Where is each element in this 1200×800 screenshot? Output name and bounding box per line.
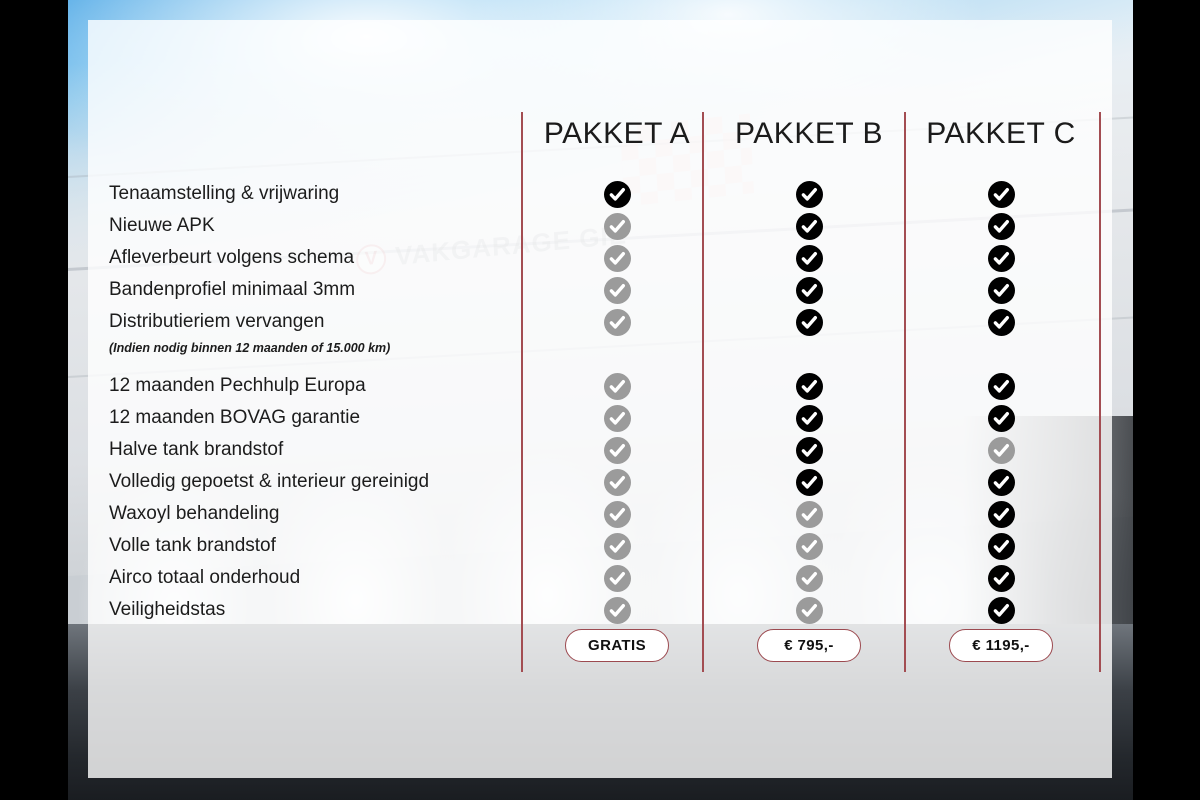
check-included-icon — [988, 501, 1015, 528]
check-included-icon — [988, 373, 1015, 400]
check-included-icon — [988, 309, 1015, 336]
check-included-icon — [796, 181, 823, 208]
letterbox-left — [0, 0, 68, 800]
check-excluded-icon — [604, 469, 631, 496]
check-included-icon — [796, 373, 823, 400]
check-included-icon — [988, 565, 1015, 592]
feature-label: Halve tank brandstof — [109, 440, 283, 459]
column-header-c: PAKKET C — [861, 117, 1141, 151]
check-excluded-icon — [796, 597, 823, 624]
feature-label: Tenaamstelling & vrijwaring — [109, 184, 339, 203]
check-included-icon — [988, 277, 1015, 304]
feature-label: Waxoyl behandeling — [109, 504, 279, 523]
check-included-icon — [604, 181, 631, 208]
check-excluded-icon — [604, 245, 631, 272]
price-button-b[interactable]: € 795,- — [757, 629, 861, 662]
check-excluded-icon — [604, 501, 631, 528]
price-button-c[interactable]: € 1195,- — [949, 629, 1053, 662]
feature-label: Bandenprofiel minimaal 3mm — [109, 280, 355, 299]
feature-label: Nieuwe APK — [109, 216, 215, 235]
feature-label: Afleverbeurt volgens schema — [109, 248, 354, 267]
check-excluded-icon — [604, 597, 631, 624]
check-included-icon — [796, 405, 823, 432]
check-excluded-icon — [796, 501, 823, 528]
check-included-icon — [988, 469, 1015, 496]
check-included-icon — [796, 213, 823, 240]
check-excluded-icon — [604, 277, 631, 304]
feature-note: (Indien nodig binnen 12 maanden of 15.00… — [109, 341, 390, 355]
feature-label: Airco totaal onderhoud — [109, 568, 300, 587]
check-excluded-icon — [988, 437, 1015, 464]
check-excluded-icon — [604, 373, 631, 400]
check-included-icon — [988, 245, 1015, 272]
check-excluded-icon — [796, 533, 823, 560]
feature-label: Distributieriem vervangen — [109, 312, 324, 331]
check-excluded-icon — [604, 533, 631, 560]
check-excluded-icon — [796, 565, 823, 592]
column-divider-1 — [521, 112, 523, 672]
column-divider-4 — [1099, 112, 1101, 672]
letterbox-right — [1133, 0, 1200, 800]
check-included-icon — [988, 405, 1015, 432]
feature-label: Volledig gepoetst & interieur gereinigd — [109, 472, 429, 491]
feature-label: Volle tank brandstof — [109, 536, 276, 555]
check-included-icon — [796, 277, 823, 304]
check-included-icon — [796, 245, 823, 272]
check-included-icon — [988, 213, 1015, 240]
check-included-icon — [796, 437, 823, 464]
check-excluded-icon — [604, 405, 631, 432]
column-divider-3 — [904, 112, 906, 672]
check-included-icon — [796, 309, 823, 336]
price-button-a[interactable]: GRATIS — [565, 629, 669, 662]
check-included-icon — [796, 469, 823, 496]
check-excluded-icon — [604, 565, 631, 592]
check-included-icon — [988, 181, 1015, 208]
check-excluded-icon — [604, 437, 631, 464]
feature-label: 12 maanden BOVAG garantie — [109, 408, 360, 427]
check-excluded-icon — [604, 213, 631, 240]
check-excluded-icon — [604, 309, 631, 336]
column-divider-2 — [702, 112, 704, 672]
feature-label: 12 maanden Pechhulp Europa — [109, 376, 366, 395]
feature-label: Veiligheidstas — [109, 600, 225, 619]
comparison-table-screen: VAKGARAGE GIE PAKKET APAKKET BPAKKET CTe… — [0, 0, 1200, 800]
check-included-icon — [988, 533, 1015, 560]
check-included-icon — [988, 597, 1015, 624]
